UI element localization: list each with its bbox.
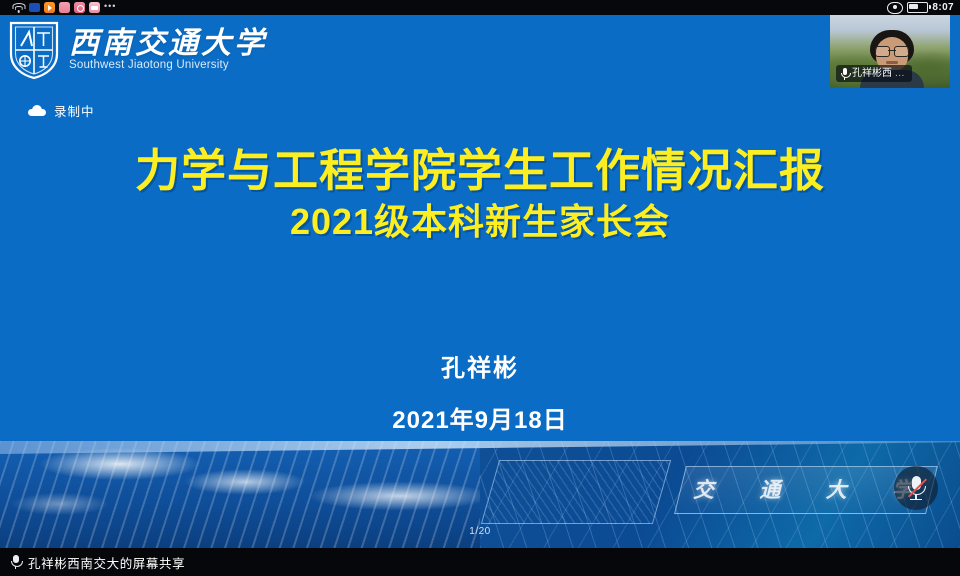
decoration-top-line: [0, 438, 960, 441]
pip-participant-name: 孔祥彬西: [852, 69, 892, 79]
building-char-2: 大: [824, 474, 852, 504]
screen-share-bar: 孔祥彬西南交大的屏幕共享: [0, 548, 960, 576]
os-status-bar: ••• 8:07: [0, 0, 960, 15]
microphone-icon: [840, 68, 849, 80]
university-name-en: Southwest Jiaotong University: [69, 60, 267, 72]
screen-share-status: 孔祥彬西南交大的屏幕共享: [0, 553, 185, 572]
screen-share-label: 孔祥彬西南交大的屏幕共享: [28, 553, 185, 572]
slide-page-indicator: 1/20: [0, 526, 960, 537]
app-icon-card[interactable]: [89, 2, 100, 13]
cloud-icon: [28, 105, 46, 116]
microphone-icon[interactable]: [10, 555, 21, 570]
pip-name-ellipsis: ...: [895, 69, 905, 79]
shared-slide-stage[interactable]: 西南交通大学 Southwest Jiaotong University 录制中…: [0, 15, 960, 548]
presenter-name: 孔祥彬: [0, 355, 960, 384]
overflow-dots-icon[interactable]: •••: [104, 2, 116, 14]
university-logo: 西南交通大学 Southwest Jiaotong University: [8, 20, 267, 80]
pip-name-badge: 孔祥彬西 ...: [836, 65, 912, 82]
mic-mute-button[interactable]: [894, 466, 938, 510]
recording-label: 录制中: [54, 101, 95, 120]
battery-icon: [907, 2, 928, 13]
clock-time: 8:07: [932, 2, 954, 13]
building-char-1: 通: [758, 474, 786, 504]
recording-indicator: 录制中: [28, 101, 95, 120]
slide-headline: 力学与工程学院学生工作情况汇报 2021级本科新生家长会: [0, 145, 960, 244]
university-name-cn: 西南交通大学: [69, 29, 267, 59]
webcam-pip-panel[interactable]: 孔祥彬西 ...: [830, 10, 950, 88]
app-icon-pink[interactable]: [59, 2, 70, 13]
building-char-0: 交: [691, 474, 719, 504]
slide-title-sub: 2021级本科新生家长会: [0, 199, 960, 244]
shield-emblem-icon: [8, 20, 60, 80]
presenter-date: 2021年9月18日: [0, 407, 960, 436]
network-icon[interactable]: [29, 3, 40, 12]
mic-muted-icon: [906, 475, 926, 501]
wifi-icon[interactable]: [12, 2, 25, 13]
app-icon-rose[interactable]: [74, 2, 85, 13]
university-name-block: 西南交通大学 Southwest Jiaotong University: [69, 29, 267, 72]
media-app-icon[interactable]: [44, 2, 55, 13]
building-characters: 交 通 大 学: [691, 474, 918, 504]
slide-title-main: 力学与工程学院学生工作情况汇报: [0, 145, 960, 197]
status-bar-right-icons: 8:07: [887, 0, 954, 15]
status-bar-left-icons: •••: [12, 0, 116, 15]
presenter-block: 孔祥彬 2021年9月18日: [0, 355, 960, 436]
eye-icon[interactable]: [887, 2, 903, 14]
